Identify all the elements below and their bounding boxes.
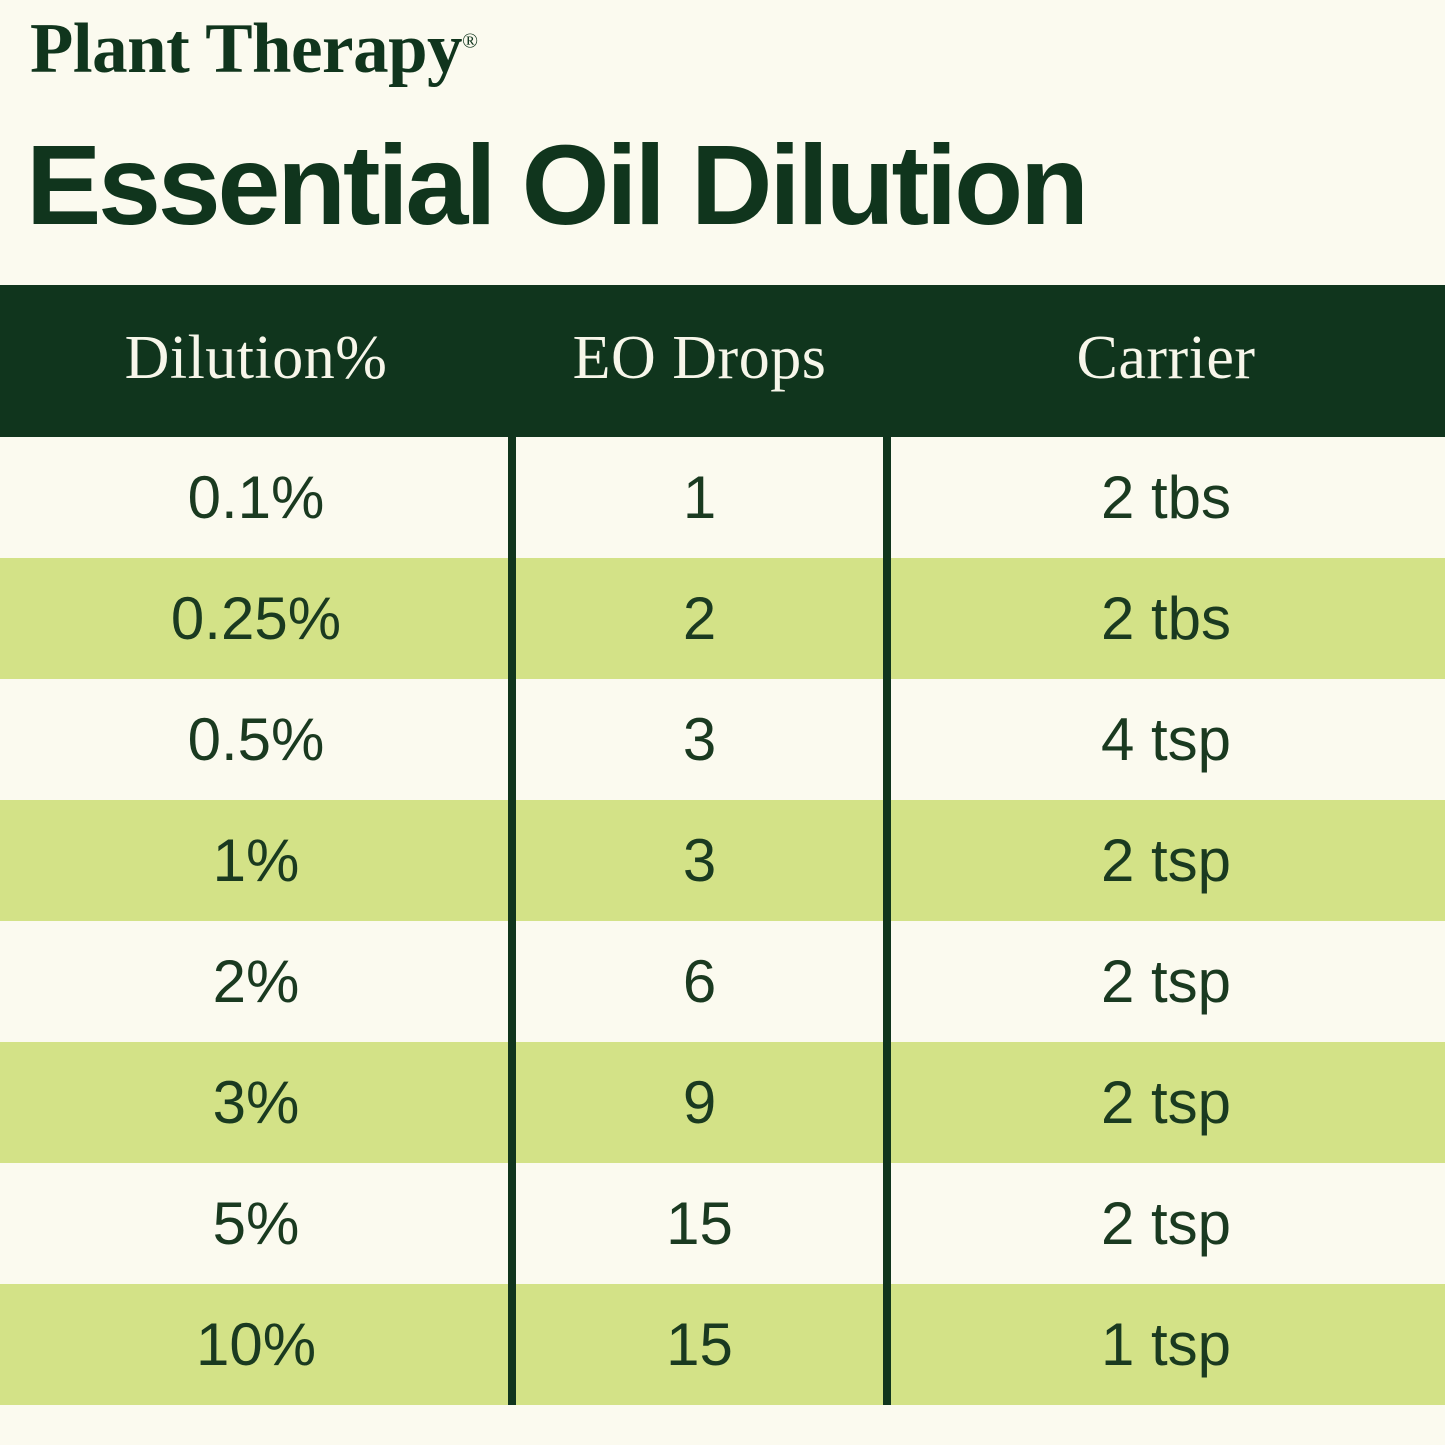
table-body: 0.1%12 tbs0.25%22 tbs0.5%34 tsp1%32 tsp2…: [0, 437, 1445, 1405]
cell-dilution: 3%: [0, 1073, 512, 1133]
cell-carrier: 2 tsp: [887, 831, 1445, 891]
cell-dilution: 0.5%: [0, 710, 512, 770]
table-header-row: Dilution% EO Drops Carrier: [0, 285, 1445, 437]
cell-drops: 2: [512, 589, 887, 649]
branding-block: Plant Therapy® Essential Oil Dilution: [0, 0, 1445, 285]
column-header-dilution: Dilution%: [0, 327, 512, 395]
table-row: 5%152 tsp: [0, 1163, 1445, 1284]
cell-carrier: 2 tsp: [887, 952, 1445, 1012]
cell-carrier: 1 tsp: [887, 1315, 1445, 1375]
cell-drops: 15: [512, 1315, 887, 1375]
cell-drops: 9: [512, 1073, 887, 1133]
dilution-chart-page: Plant Therapy® Essential Oil Dilution Di…: [0, 0, 1445, 1445]
cell-dilution: 0.25%: [0, 589, 512, 649]
table-row: 10%151 tsp: [0, 1284, 1445, 1405]
cell-drops: 15: [512, 1194, 887, 1254]
table-row: 0.1%12 tbs: [0, 437, 1445, 558]
column-header-carrier: Carrier: [887, 327, 1445, 395]
brand-name-text: Plant Therapy: [30, 10, 462, 88]
cell-carrier: 2 tbs: [887, 468, 1445, 528]
cell-drops: 3: [512, 710, 887, 770]
cell-drops: 1: [512, 468, 887, 528]
dilution-table: Dilution% EO Drops Carrier 0.1%12 tbs0.2…: [0, 285, 1445, 1445]
cell-dilution: 10%: [0, 1315, 512, 1375]
page-title: Essential Oil Dilution: [26, 124, 1086, 246]
cell-dilution: 5%: [0, 1194, 512, 1254]
table-row: 1%32 tsp: [0, 800, 1445, 921]
table-row: 0.25%22 tbs: [0, 558, 1445, 679]
registered-trademark-icon: ®: [462, 28, 478, 52]
cell-drops: 3: [512, 831, 887, 891]
table-row: 0.5%34 tsp: [0, 679, 1445, 800]
cell-carrier: 2 tsp: [887, 1194, 1445, 1254]
cell-carrier: 2 tbs: [887, 589, 1445, 649]
table-row: 3%92 tsp: [0, 1042, 1445, 1163]
brand-wordmark: Plant Therapy®: [30, 14, 478, 85]
cell-drops: 6: [512, 952, 887, 1012]
column-header-eo-drops: EO Drops: [512, 327, 887, 395]
cell-carrier: 2 tsp: [887, 1073, 1445, 1133]
cell-dilution: 0.1%: [0, 468, 512, 528]
cell-dilution: 1%: [0, 831, 512, 891]
table-row: 2%62 tsp: [0, 921, 1445, 1042]
cell-carrier: 4 tsp: [887, 710, 1445, 770]
cell-dilution: 2%: [0, 952, 512, 1012]
